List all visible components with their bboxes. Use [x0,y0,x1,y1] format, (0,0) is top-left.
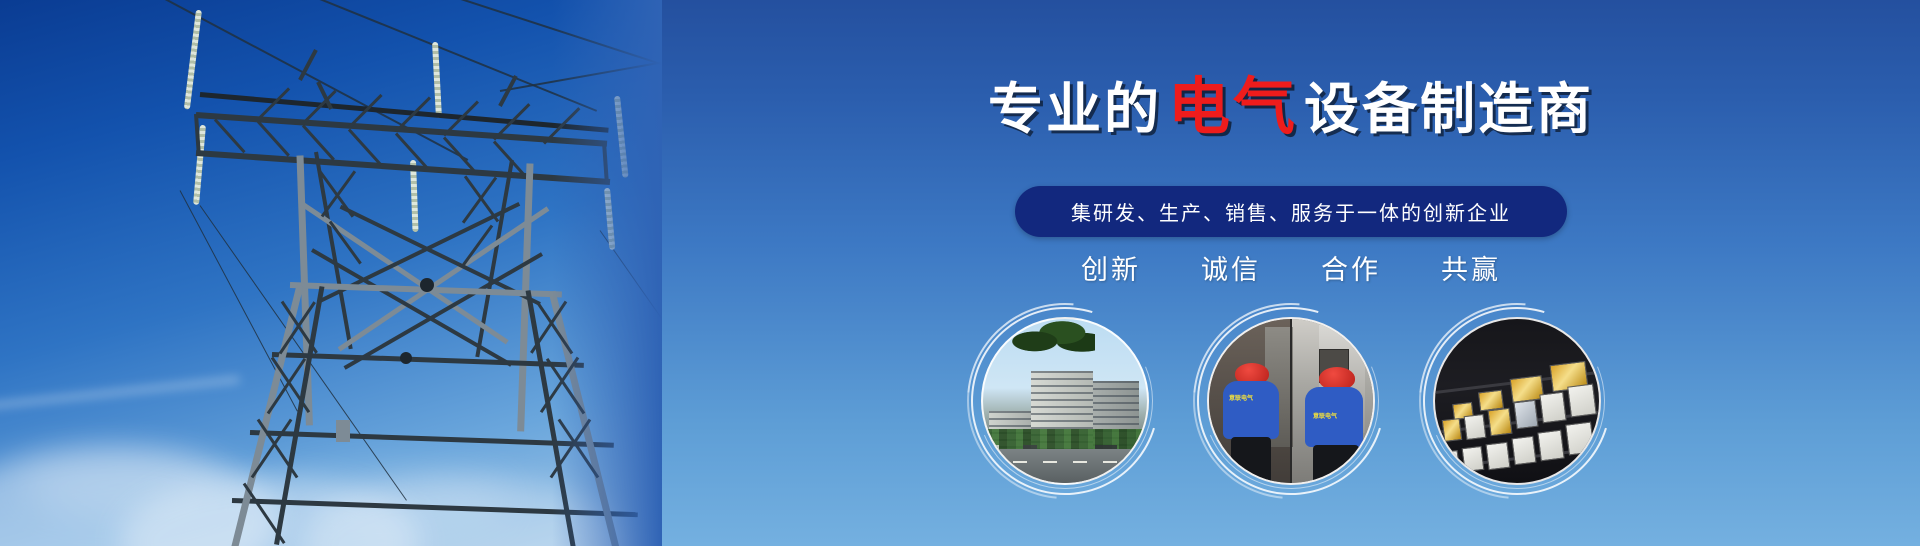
certificate-frame [1565,422,1595,456]
photo-divider [1290,319,1292,483]
certificate-frame [1487,408,1512,436]
worker-uniform [1223,381,1279,439]
keyword-winwin: 共赢 [1441,248,1501,287]
circle-certificates [1433,317,1601,485]
circle-workers: 意联电气 意联电气 [1207,317,1375,485]
banner-headline: 专业的电气设备制造商 [662,77,1920,139]
headline-part-1: 专业的 [988,78,1162,140]
keyword-cooperation: 合作 [1321,248,1381,287]
pylon-structure [0,0,662,546]
photo-circle-group: 意联电气 意联电气 [662,317,1920,485]
office-building-photo [981,317,1149,485]
certificate-frame [1485,442,1510,470]
uniform-text: 意联电气 [1313,411,1337,420]
worker-trousers [1231,437,1271,485]
certificates-wall-photo [1433,317,1601,485]
headline-highlight: 电气 [1162,73,1304,142]
certificate-frame [1440,450,1461,474]
certificate-frame [1442,418,1463,442]
certificate-frame [1539,392,1566,424]
certificate-frame [1464,414,1487,440]
banner-content: 专业的电气设备制造商 集研发、生产、销售、服务于一体的创新企业 创新 诚信 合作… [662,0,1920,546]
keyword-list: 创新 诚信 合作 共赢 [662,248,1920,287]
road [983,449,1147,483]
hero-banner: 专业的电气设备制造商 集研发、生产、销售、服务于一体的创新企业 创新 诚信 合作… [0,0,1920,546]
subtitle-pill: 集研发、生产、销售、服务于一体的创新企业 [1015,186,1567,237]
certificate-frame [1462,446,1485,472]
subtitle-pill-wrap: 集研发、生产、销售、服务于一体的创新企业 [662,186,1920,237]
worker-trousers [1313,445,1359,485]
certificate-frame [1513,400,1538,429]
certificate-frame [1537,430,1564,462]
circle-office-building [981,317,1149,485]
uniform-text: 意联电气 [1229,393,1253,402]
headline-part-2: 设备制造商 [1304,78,1594,140]
transmission-tower-photo [0,0,662,546]
certificate-frame [1511,436,1536,465]
keyword-innovation: 创新 [1081,248,1141,287]
workers-installation-photo: 意联电气 意联电气 [1207,317,1375,485]
tree-foliage [1009,317,1095,359]
certificate-frame [1567,384,1597,418]
keyword-integrity: 诚信 [1201,248,1261,287]
